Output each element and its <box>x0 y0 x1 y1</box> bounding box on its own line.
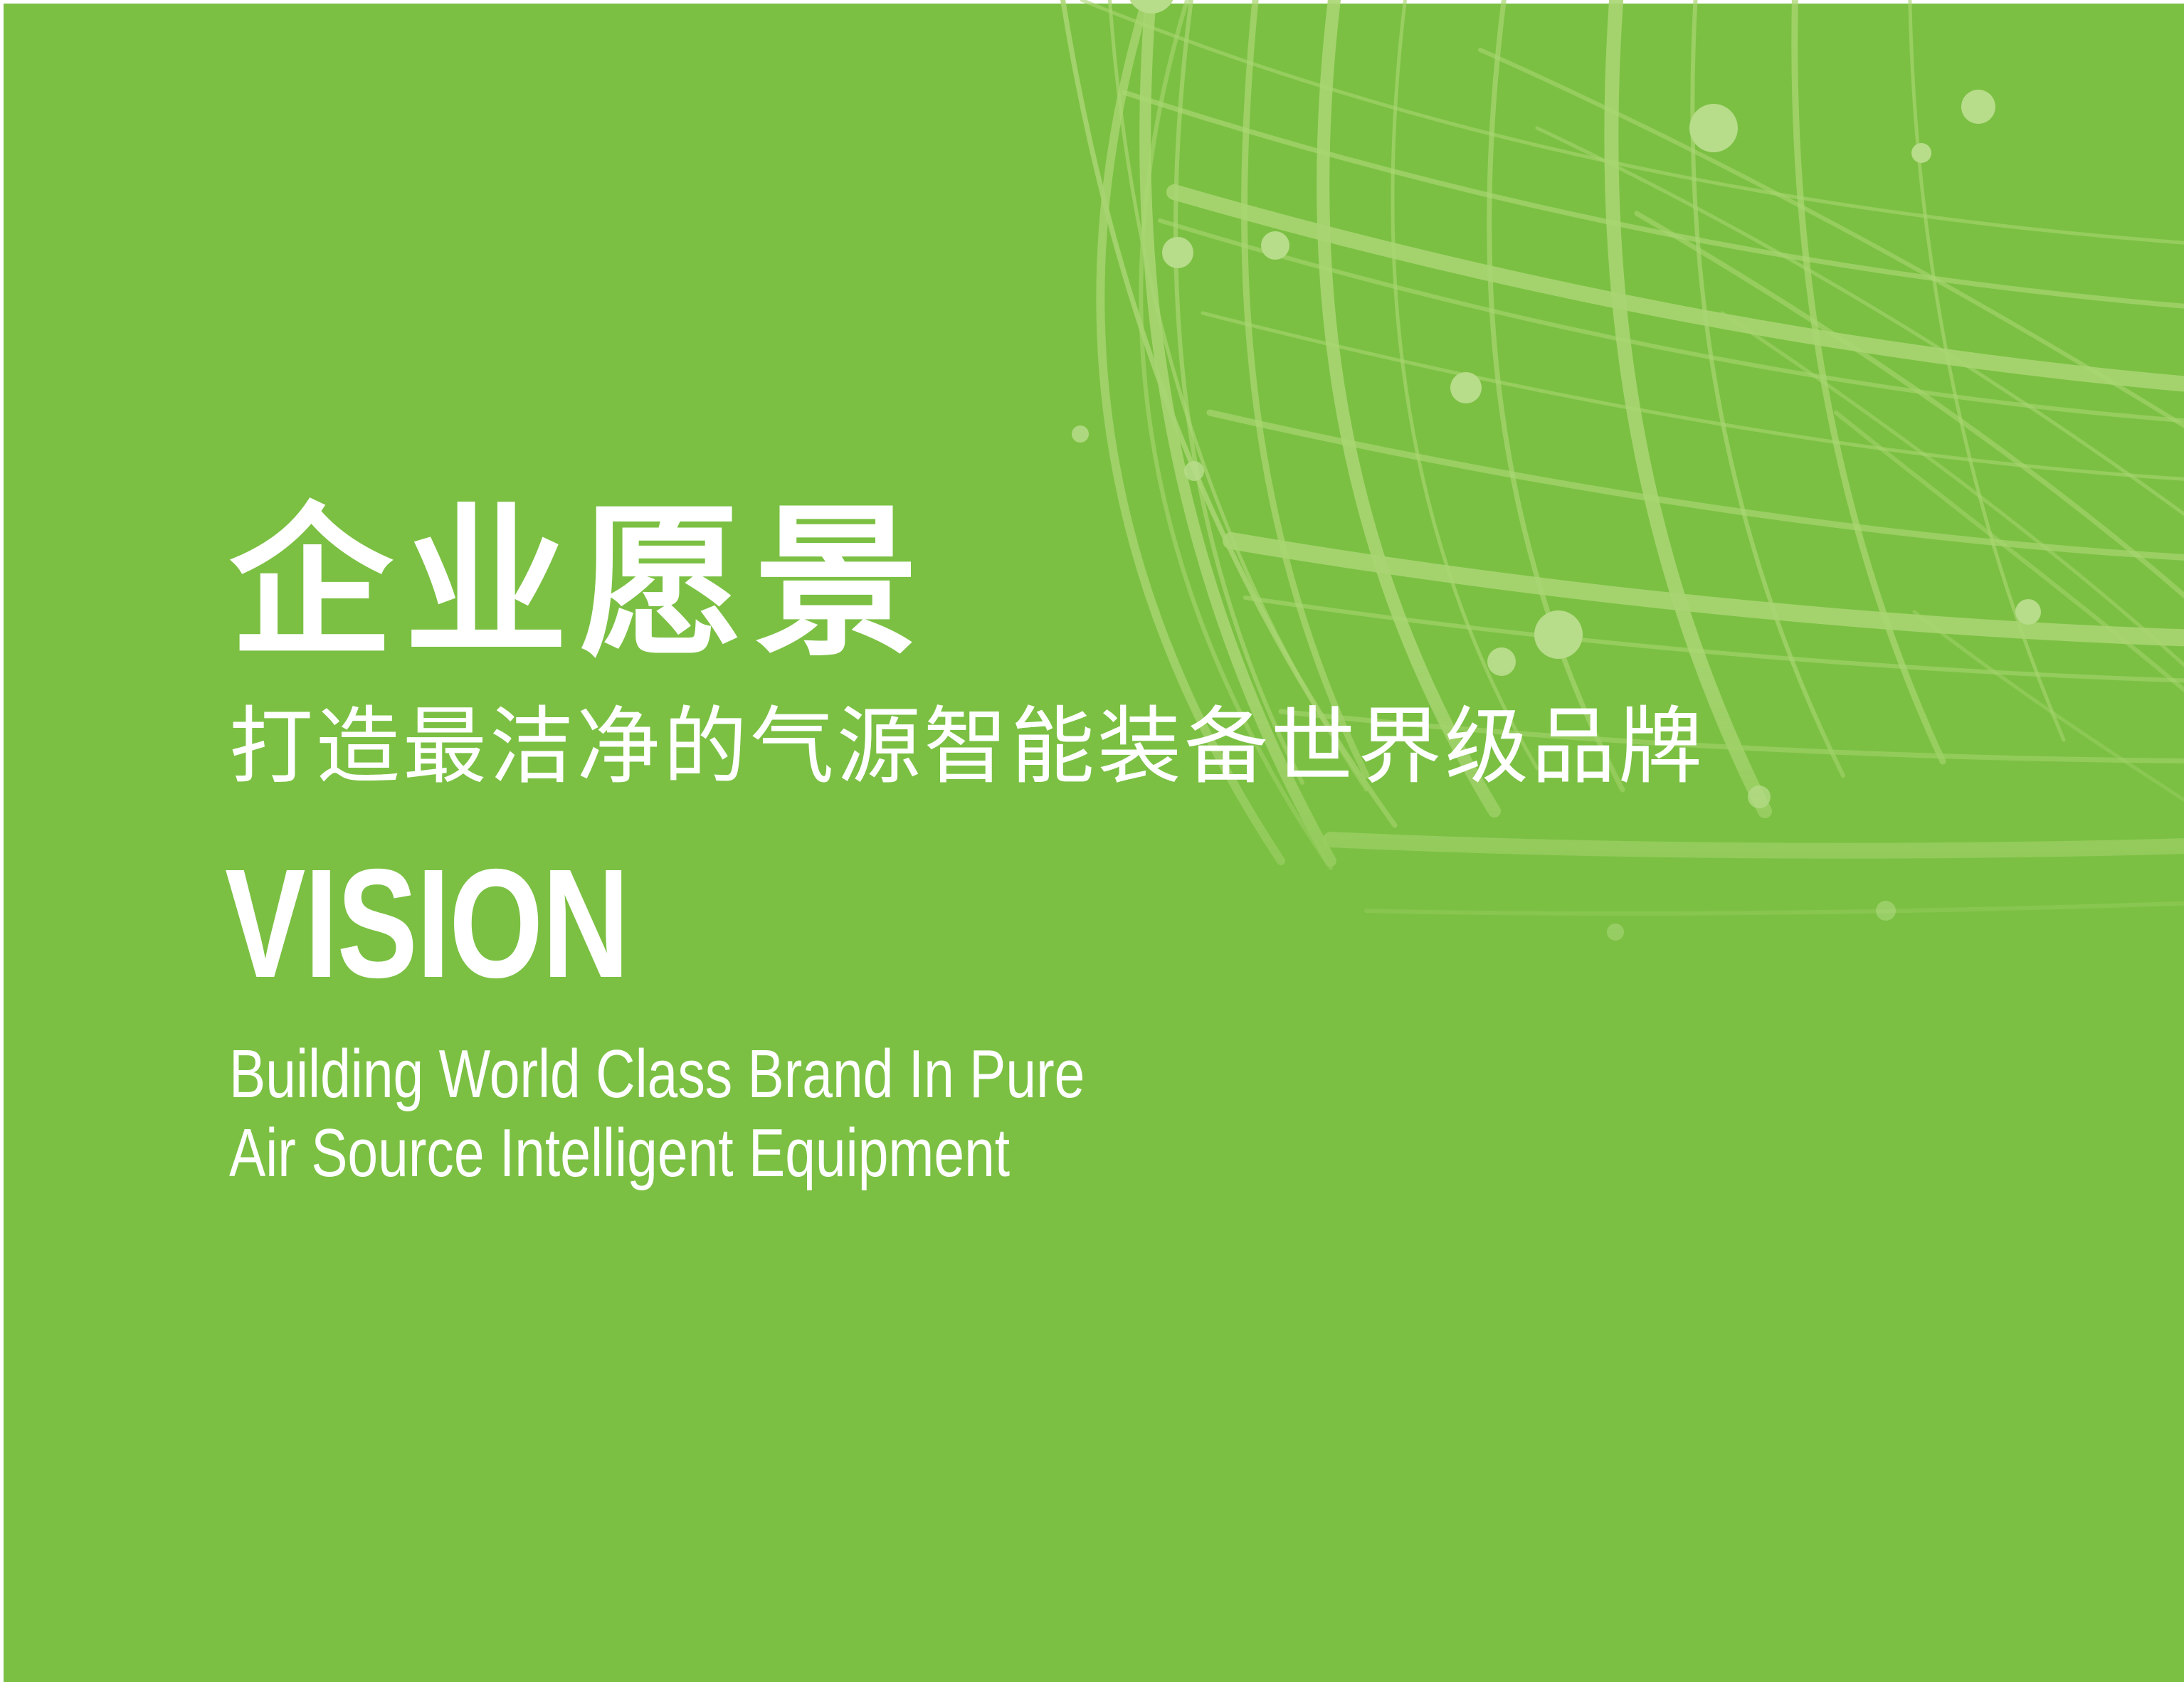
network-node <box>1261 231 1289 260</box>
subtitle-english-line-2: Air Source Intelligent Equipment <box>229 1114 1595 1192</box>
floating-dot <box>1184 461 1204 481</box>
vision-slide: 企业愿景 打造最洁净的气源智能装备世界级品牌 VISION Building W… <box>0 0 2184 1682</box>
subtitle-english: Building World Class Brand In Pure Air S… <box>229 1035 1937 1193</box>
network-node <box>1162 237 1193 268</box>
page-title-english: VISION <box>225 852 1561 998</box>
network-node <box>2015 599 2041 625</box>
page-title-chinese: 企业愿景 <box>229 498 1937 670</box>
slide-top-edge <box>0 0 2184 4</box>
subtitle-english-line-1: Building World Class Brand In Pure <box>229 1035 1595 1114</box>
subtitle-chinese: 打造最洁净的气源智能装备世界级品牌 <box>229 697 1937 796</box>
network-node <box>1450 372 1482 403</box>
network-node <box>1961 90 1995 124</box>
vision-text-block: 企业愿景 打造最洁净的气源智能装备世界级品牌 VISION Building W… <box>229 498 1937 1192</box>
floating-dot <box>1072 425 1089 443</box>
network-node <box>1689 104 1738 152</box>
slide-left-edge <box>0 0 4 1682</box>
network-node <box>1911 143 1931 163</box>
